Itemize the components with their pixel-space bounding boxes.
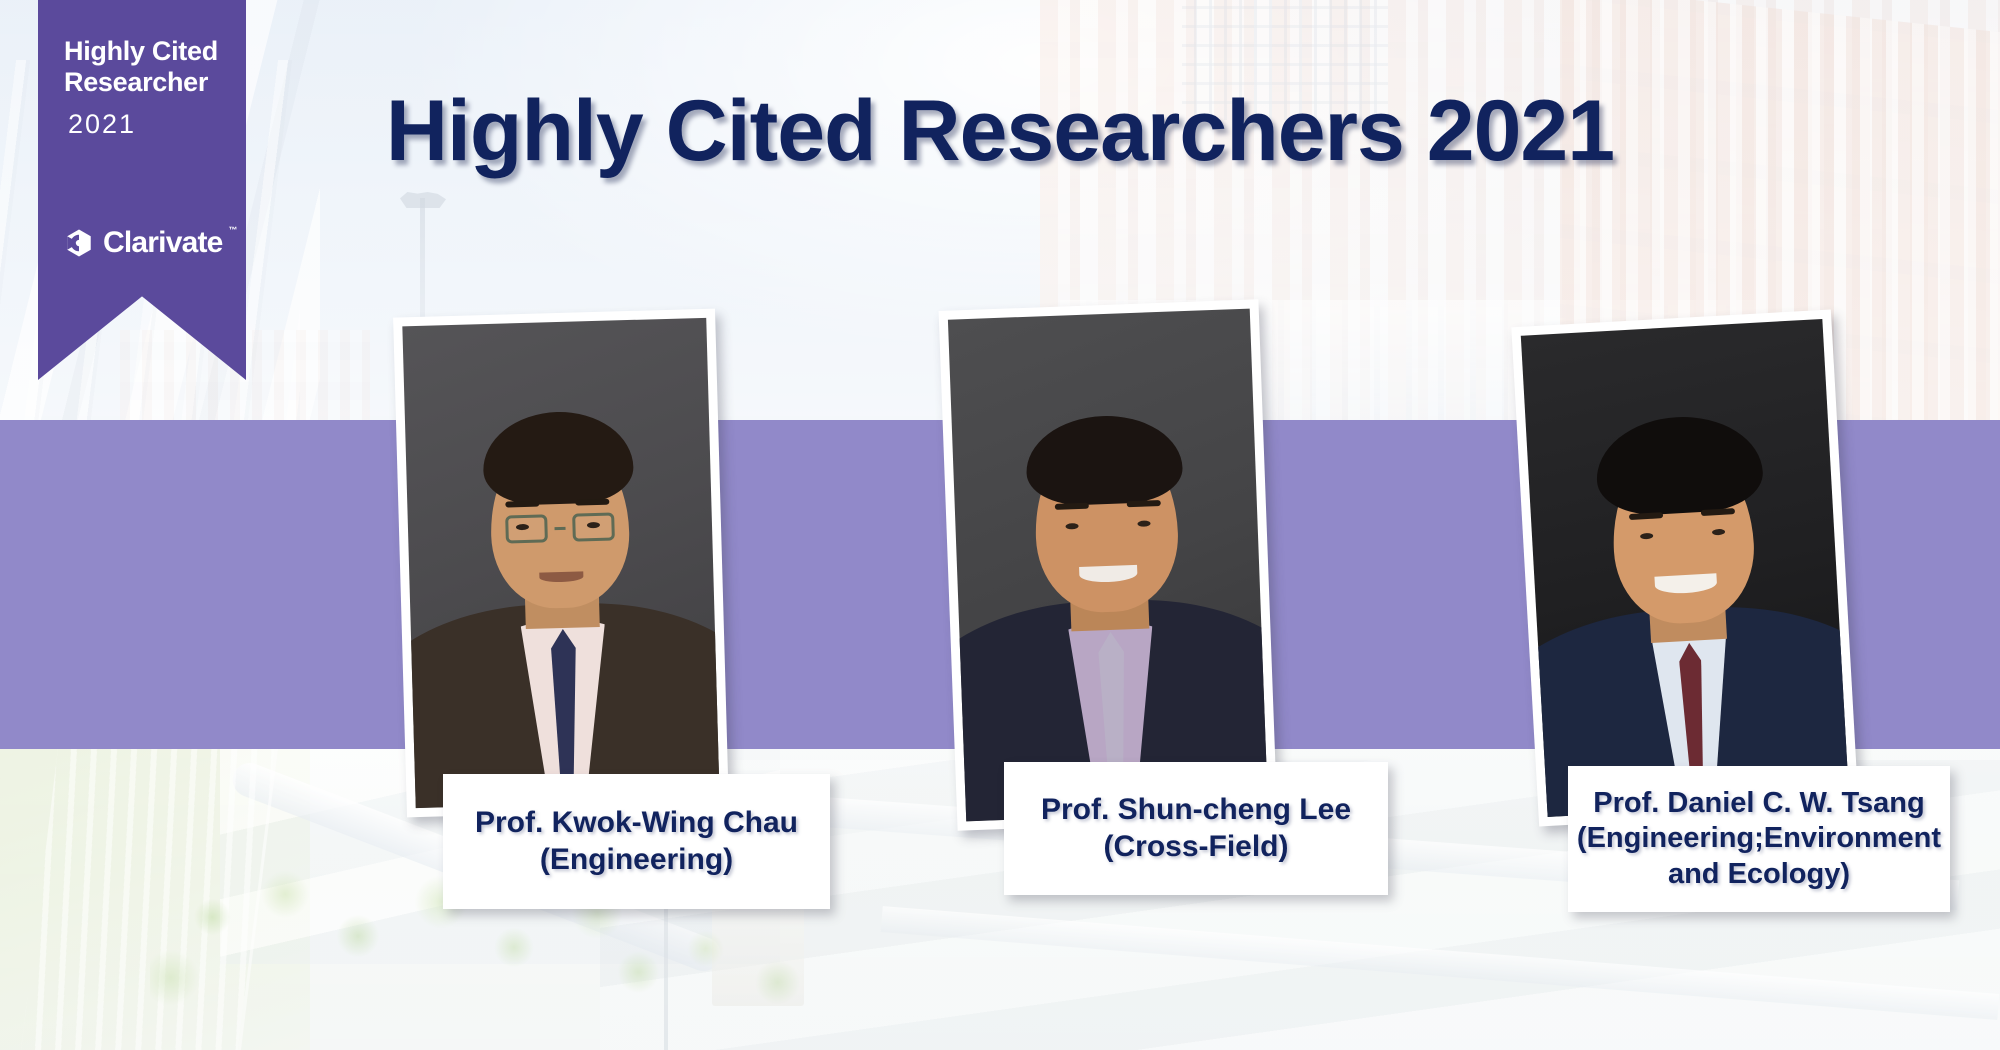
researcher-field-line-1: (Engineering;Environment bbox=[1568, 821, 1950, 856]
researcher-field: (Engineering) bbox=[443, 842, 830, 879]
researcher-field: (Cross-Field) bbox=[1004, 829, 1388, 866]
clarivate-wordmark: Clarivate ™ bbox=[103, 228, 223, 258]
portrait-brow-right bbox=[575, 499, 609, 506]
portrait-brow-right bbox=[1127, 500, 1161, 507]
glasses-bridge bbox=[554, 526, 565, 529]
researcher-portrait-image bbox=[402, 318, 719, 808]
researcher-photo-card bbox=[1511, 309, 1858, 826]
researcher-photo-card bbox=[939, 299, 1278, 830]
researcher-name: Prof. Kwok-Wing Chau bbox=[443, 805, 830, 842]
poster-canvas: Highly Cited Researcher 2021 Clarivate ™… bbox=[0, 0, 2000, 1050]
ribbon-title-line-1: Highly Cited bbox=[64, 36, 228, 67]
portrait-brow-left bbox=[1055, 503, 1089, 510]
researcher-caption: Prof. Daniel C. W. Tsang (Engineering;En… bbox=[1568, 766, 1950, 912]
portrait-hair bbox=[1025, 413, 1184, 507]
page-title: Highly Cited Researchers 2021 bbox=[0, 82, 2000, 181]
researcher-name: Prof. Daniel C. W. Tsang bbox=[1568, 786, 1950, 821]
portrait-hair bbox=[1594, 413, 1765, 518]
portrait-brow-left bbox=[505, 501, 539, 508]
clarivate-logo: Clarivate ™ bbox=[64, 228, 223, 258]
clarivate-wordmark-text: Clarivate bbox=[103, 226, 223, 259]
researcher-name: Prof. Shun-cheng Lee bbox=[1004, 792, 1388, 829]
researcher-photo-card bbox=[393, 309, 729, 818]
clarivate-hexagon-logo-icon bbox=[64, 228, 94, 258]
researcher-portrait-image bbox=[1521, 319, 1849, 817]
researcher-caption: Prof. Kwok-Wing Chau (Engineering) bbox=[443, 774, 830, 909]
researcher-caption: Prof. Shun-cheng Lee (Cross-Field) bbox=[1004, 762, 1388, 895]
researcher-portrait-image bbox=[948, 309, 1268, 822]
portrait-hair bbox=[482, 410, 635, 506]
researcher-field-line-2: and Ecology) bbox=[1568, 857, 1950, 892]
clarivate-trademark-symbol: ™ bbox=[228, 226, 236, 235]
